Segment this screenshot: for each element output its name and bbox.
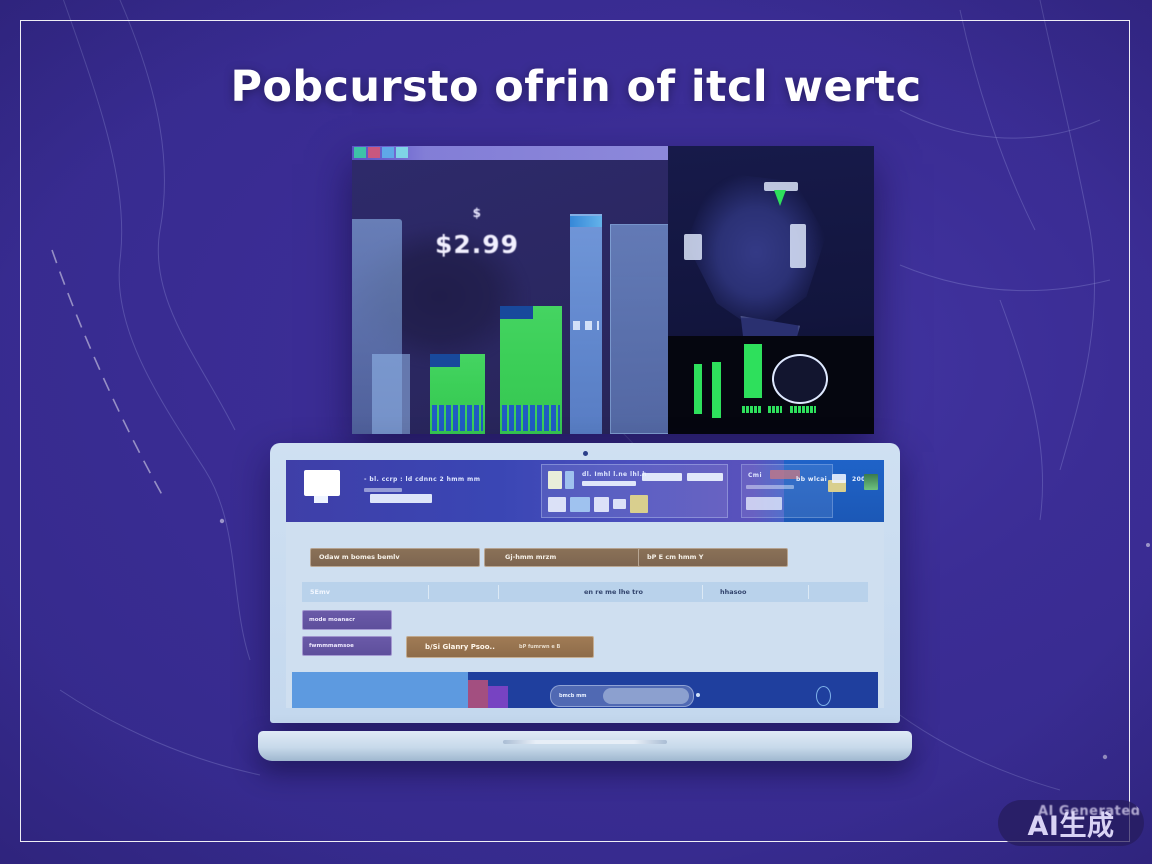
- menu-tile-icon: [548, 471, 562, 489]
- table-header-cell-1: 5Emv: [310, 582, 330, 602]
- table-header-divider-1: [428, 585, 429, 599]
- app-logo-stand: [314, 496, 328, 503]
- table-header-divider-3: [702, 585, 703, 599]
- chart-bar-label-block: [502, 405, 560, 431]
- highlight-bar-text: b/Si Glanry Psoo..: [425, 637, 495, 657]
- titlebar-chip-4: [396, 147, 408, 158]
- menu-row2-tile-4[interactable]: [613, 499, 626, 509]
- laptop-trackpad-notch: [503, 740, 667, 744]
- footer-dot: [696, 693, 700, 697]
- dark-panel-green-box: [744, 344, 762, 398]
- ai-generated-watermark: AI生成 AI Generated: [998, 800, 1144, 846]
- dark-panel-tool-left: [684, 234, 702, 260]
- table-header-divider-2: [498, 585, 499, 599]
- table-row-chip-1[interactable]: mode moanacr: [302, 610, 392, 630]
- dark-panel-caption-3: [790, 406, 816, 413]
- laptop-base: [258, 731, 912, 761]
- laptop-mockup: - bl. ccrp : ld cdnnc 2 hmm mm dl. Imhl …: [258, 443, 894, 763]
- table-header-cell-5: hhasoo: [720, 582, 746, 602]
- footer-pill-label: bmcb mm: [559, 686, 587, 706]
- progress-fill: [292, 672, 468, 708]
- page-title: Pobcursto ofrin of itcl wertc: [0, 62, 1152, 112]
- header-account-card[interactable]: Cmi: [741, 464, 833, 518]
- chart-bar-green-1: [430, 354, 485, 434]
- menu-row2-tile-2[interactable]: [570, 497, 590, 512]
- dark-panel-green-bar-1: [694, 364, 702, 414]
- footer-search-pill[interactable]: bmcb mm: [550, 685, 694, 707]
- table-row-chip-2[interactable]: fwmmmamsoe: [302, 636, 392, 656]
- chart-bar-cap: [500, 306, 533, 319]
- table-header-row: 5Emv en re me lhe tro hhasoo: [302, 582, 868, 602]
- account-underline: [746, 485, 794, 489]
- header-menu-card[interactable]: dl. Imhl l.ne lhl.h: [541, 464, 728, 518]
- table-header-cell-4: en re me lhe tro: [584, 582, 643, 602]
- header-right-tile: [832, 474, 846, 483]
- menu-tile-bars: [565, 471, 574, 489]
- menu-row2-tile-3[interactable]: [594, 497, 609, 512]
- header-right-chart-icon: [864, 474, 878, 490]
- account-label: Cmi: [748, 472, 762, 479]
- chart-bar-ghost-left-foot: [372, 354, 410, 434]
- footer-pill-inner: [603, 688, 689, 704]
- webcam-icon: [583, 451, 588, 456]
- menu-row2-tile-5[interactable]: [630, 495, 648, 513]
- watermark-ghost-label: AI Generated: [1038, 804, 1141, 819]
- chart-value-caption: $: [352, 206, 602, 220]
- toolbar-chip-3[interactable]: bP E cm hmm Y: [638, 548, 788, 567]
- toolbar-chip-2[interactable]: Gj-hmm mrzm: [484, 548, 648, 567]
- dark-panel-circle-icon: [772, 354, 828, 404]
- menu-underline-1: [582, 481, 636, 486]
- footer-square-2: [488, 686, 508, 708]
- menu-row2-tile-1[interactable]: [548, 497, 566, 512]
- app-header: - bl. ccrp : ld cdnnc 2 hmm mm dl. Imhl …: [286, 460, 884, 522]
- chart-bar-mid-label: [573, 321, 599, 330]
- menu-underline-3: [687, 473, 723, 481]
- dark-panel-tool-top: [764, 182, 798, 191]
- titlebar-chip-3: [382, 147, 394, 158]
- laptop-lid: - bl. ccrp : ld cdnnc 2 hmm mm dl. Imhl …: [270, 443, 900, 723]
- titlebar-chip-2: [368, 147, 380, 158]
- account-tile: [746, 497, 782, 510]
- dark-panel-caption-1: [742, 406, 762, 413]
- chart-bar-blue-2: [610, 224, 670, 434]
- nav-item-1[interactable]: - bl. ccrp : ld cdnnc 2 hmm mm: [364, 476, 480, 483]
- nav-pill-1: [364, 488, 402, 492]
- chart-bar-cap: [570, 216, 602, 227]
- dark-panel-tool-right: [790, 224, 806, 268]
- titlebar-chip-1: [354, 147, 366, 158]
- footer-bar: bmcb mm: [292, 672, 878, 708]
- dark-panel-green-bar-2: [712, 362, 721, 418]
- chart-bar-cap: [430, 354, 460, 367]
- table-highlight-bar[interactable]: b/Si Glanry Psoo.. bP fumrwn e B: [406, 636, 594, 658]
- laptop-screen: - bl. ccrp : ld cdnnc 2 hmm mm dl. Imhl …: [286, 460, 884, 708]
- chart-titlebar-chips: [354, 147, 408, 159]
- footer-ring-icon: [816, 686, 831, 706]
- app-logo: [304, 470, 340, 496]
- menu-underline-2: [642, 473, 682, 481]
- chart-panel: $ $2.99: [352, 146, 874, 434]
- highlight-bar-subtext: bP fumrwn e B: [519, 637, 560, 657]
- menu-label-1: dl. Imhl l.ne lhl.h: [582, 471, 647, 478]
- nav-pill-2: [370, 494, 432, 503]
- footer-square-1: [468, 680, 488, 708]
- header-right-label: bb wlcai: [796, 476, 827, 483]
- dark-panel-caption-2: [768, 406, 782, 413]
- chart-bar-blue-1: [570, 214, 602, 434]
- dark-panel-bottom-strip: [668, 336, 874, 434]
- table-header-divider-4: [808, 585, 809, 599]
- toolbar-chip-1[interactable]: Odaw m bomes bemlv: [310, 548, 480, 567]
- chart-dark-subpanel: [668, 146, 874, 434]
- chart-bar-label-block: [432, 405, 483, 431]
- chart-bar-green-2: [500, 306, 562, 434]
